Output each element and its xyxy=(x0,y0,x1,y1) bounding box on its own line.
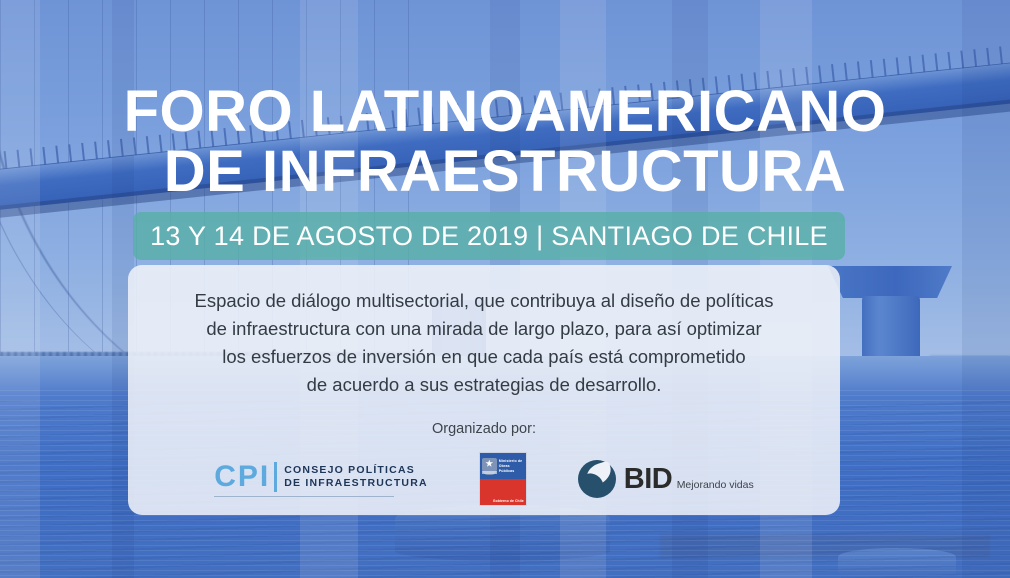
cpi-lockup: CPI CONSEJO POLÍTICAS DE INFRAESTRUCTURA xyxy=(214,462,428,492)
mop-footer-band: Gobierno de Chile xyxy=(480,479,526,505)
bid-tagline: Mejorando vidas xyxy=(677,479,754,491)
chile-coat-of-arms-icon xyxy=(482,458,497,475)
event-date-text: 13 Y 14 DE AGOSTO DE 2019 | SANTIAGO DE … xyxy=(150,221,828,252)
description-line: de acuerdo a sus estrategias de desarrol… xyxy=(128,371,840,399)
headline-line-1: FORO LATINOAMERICANO xyxy=(124,79,887,144)
cpi-monogram: CPI xyxy=(214,462,270,492)
mop-wordmark-line-2: Obras Públicas xyxy=(499,464,515,473)
poster-canvas: FORO LATINOAMERICANO DE INFRAESTRUCTURA … xyxy=(0,0,1010,578)
page-title: FORO LATINOAMERICANO DE INFRAESTRUCTURA xyxy=(0,82,1010,202)
bid-wordmark: BID xyxy=(624,463,672,495)
description-line: de infraestructura con una mirada de lar… xyxy=(128,315,840,343)
bid-swirl-icon xyxy=(578,460,616,498)
info-card: Espacio de diálogo multisectorial, que c… xyxy=(128,265,840,515)
event-date-banner: 13 Y 14 DE AGOSTO DE 2019 | SANTIAGO DE … xyxy=(133,212,845,260)
headline-line-2: DE INFRAESTRUCTURA xyxy=(0,142,1010,202)
sponsor-logos: CPI CONSEJO POLÍTICAS DE INFRAESTRUCTURA xyxy=(128,453,840,505)
cpi-wordmark-line-1: CONSEJO POLÍTICAS xyxy=(284,464,415,476)
mop-header: Ministerio de Obras Públicas xyxy=(480,453,526,479)
logo-ministerio-obras-publicas: Ministerio de Obras Públicas Gobierno de… xyxy=(480,453,526,505)
mop-footer-text: Gobierno de Chile xyxy=(493,499,524,503)
cpi-wordmark: CONSEJO POLÍTICAS DE INFRAESTRUCTURA xyxy=(284,464,428,490)
cpi-underline xyxy=(214,496,394,497)
bid-lockup: BID Mejorando vidas xyxy=(624,465,754,494)
logo-cpi: CPI CONSEJO POLÍTICAS DE INFRAESTRUCTURA xyxy=(214,462,428,497)
cpi-wordmark-line-2: DE INFRAESTRUCTURA xyxy=(284,477,428,489)
logo-bid: BID Mejorando vidas xyxy=(578,460,754,498)
bridge-pier-cap xyxy=(828,266,952,298)
description-line: Espacio de diálogo multisectorial, que c… xyxy=(128,287,840,315)
description-block: Espacio de diálogo multisectorial, que c… xyxy=(128,287,840,399)
organized-by-label: Organizado por: xyxy=(128,421,840,437)
mop-wordmark-line-1: Ministerio de xyxy=(499,459,522,463)
mop-wordmark: Ministerio de Obras Públicas xyxy=(499,459,524,474)
description-line: los esfuerzos de inversión en que cada p… xyxy=(128,343,840,371)
cpi-divider-icon xyxy=(274,462,277,492)
